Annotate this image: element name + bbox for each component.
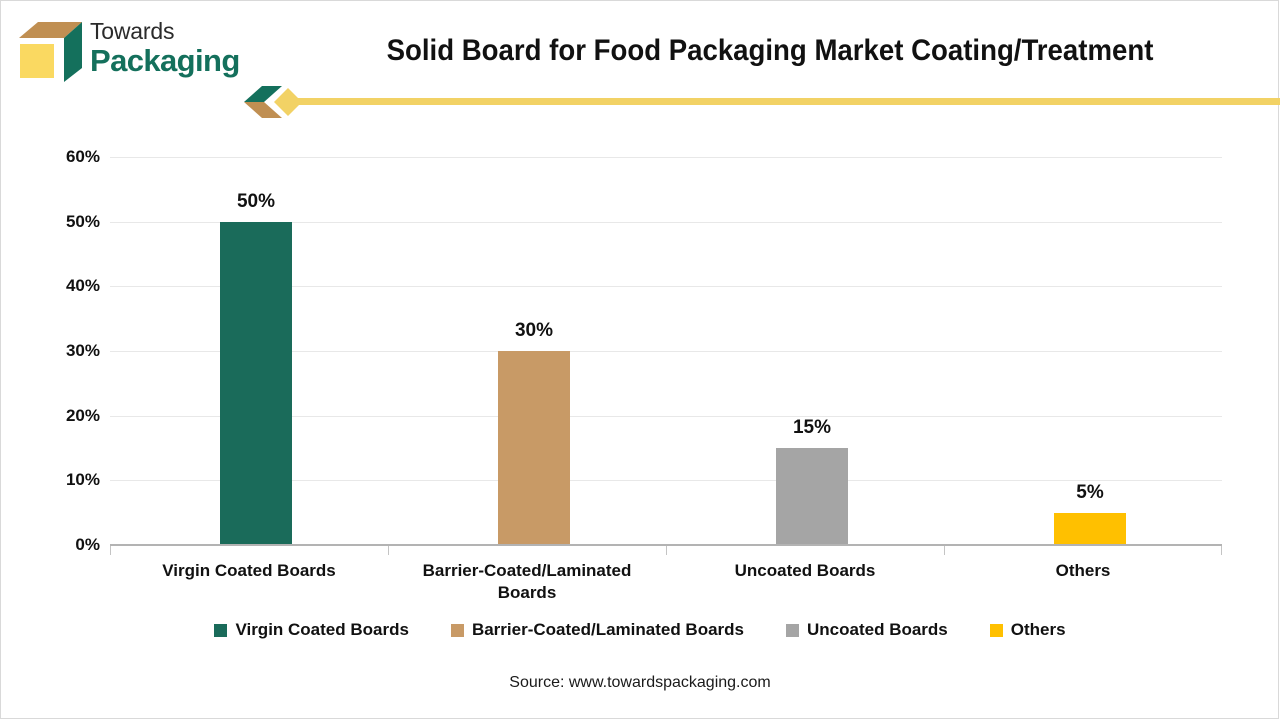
x-axis-category-label: Virgin Coated Boards bbox=[118, 560, 380, 582]
y-axis-tick-label: 10% bbox=[30, 470, 100, 490]
chevron-diamond-icon bbox=[244, 84, 306, 120]
x-axis-category-label: Barrier-Coated/Laminated Boards bbox=[396, 560, 658, 605]
y-axis-tick-label: 40% bbox=[30, 276, 100, 296]
x-axis-ticks bbox=[110, 546, 1222, 555]
brand-logo: Towards Packaging bbox=[16, 18, 246, 88]
source-caption: Source: www.towardspackaging.com bbox=[0, 674, 1280, 692]
bar-uncoated-boards[interactable] bbox=[776, 448, 848, 545]
legend-item-uncoated-boards[interactable]: Uncoated Boards bbox=[786, 620, 948, 640]
bar-value-label: 5% bbox=[1020, 482, 1160, 504]
bar-value-label: 50% bbox=[186, 191, 326, 213]
x-axis-tick bbox=[944, 546, 945, 555]
bar-value-label: 30% bbox=[464, 320, 604, 342]
bar-value-label: 15% bbox=[742, 417, 882, 439]
x-axis-tick bbox=[666, 546, 667, 555]
y-axis-tick-label: 30% bbox=[30, 341, 100, 361]
legend-swatch-icon bbox=[786, 624, 799, 637]
chart-legend: Virgin Coated Boards Barrier-Coated/Lami… bbox=[0, 620, 1280, 640]
legend-swatch-icon bbox=[990, 624, 1003, 637]
y-axis-labels: 60% 50% 40% 30% 20% 10% 0% bbox=[28, 157, 100, 545]
brand-line-2: Packaging bbox=[90, 45, 240, 76]
legend-item-barrier-coated-laminated-boards[interactable]: Barrier-Coated/Laminated Boards bbox=[451, 620, 744, 640]
x-axis-tick bbox=[110, 546, 111, 555]
legend-swatch-icon bbox=[451, 624, 464, 637]
brand-line-1: Towards bbox=[90, 20, 240, 43]
legend-label: Virgin Coated Boards bbox=[235, 620, 409, 640]
x-axis-category-label: Uncoated Boards bbox=[674, 560, 936, 582]
y-axis-tick-label: 0% bbox=[30, 535, 100, 555]
legend-swatch-icon bbox=[214, 624, 227, 637]
y-axis-tick-label: 20% bbox=[30, 406, 100, 426]
y-axis-tick-label: 60% bbox=[30, 147, 100, 167]
bar-others[interactable] bbox=[1054, 513, 1126, 545]
legend-label: Uncoated Boards bbox=[807, 620, 948, 640]
page-title: Solid Board for Food Packaging Market Co… bbox=[338, 34, 1203, 68]
legend-label: Others bbox=[1011, 620, 1066, 640]
x-axis-category-label: Others bbox=[952, 560, 1214, 582]
bar-virgin-coated-boards[interactable] bbox=[220, 222, 292, 545]
box-3d-icon bbox=[16, 18, 86, 84]
bar-barrier-coated-laminated-boards[interactable] bbox=[498, 351, 570, 545]
legend-item-virgin-coated-boards[interactable]: Virgin Coated Boards bbox=[214, 620, 409, 640]
legend-label: Barrier-Coated/Laminated Boards bbox=[472, 620, 744, 640]
y-axis-tick-label: 50% bbox=[30, 212, 100, 232]
brand-wordmark: Towards Packaging bbox=[90, 20, 240, 76]
legend-item-others[interactable]: Others bbox=[990, 620, 1066, 640]
x-axis-tick bbox=[1221, 546, 1222, 555]
x-axis-tick bbox=[388, 546, 389, 555]
bars-layer: 50% 30% 15% 5% bbox=[110, 157, 1222, 545]
accent-divider bbox=[0, 84, 1280, 120]
x-axis-labels: Virgin Coated Boards Barrier-Coated/Lami… bbox=[110, 560, 1222, 616]
accent-line bbox=[288, 98, 1280, 105]
